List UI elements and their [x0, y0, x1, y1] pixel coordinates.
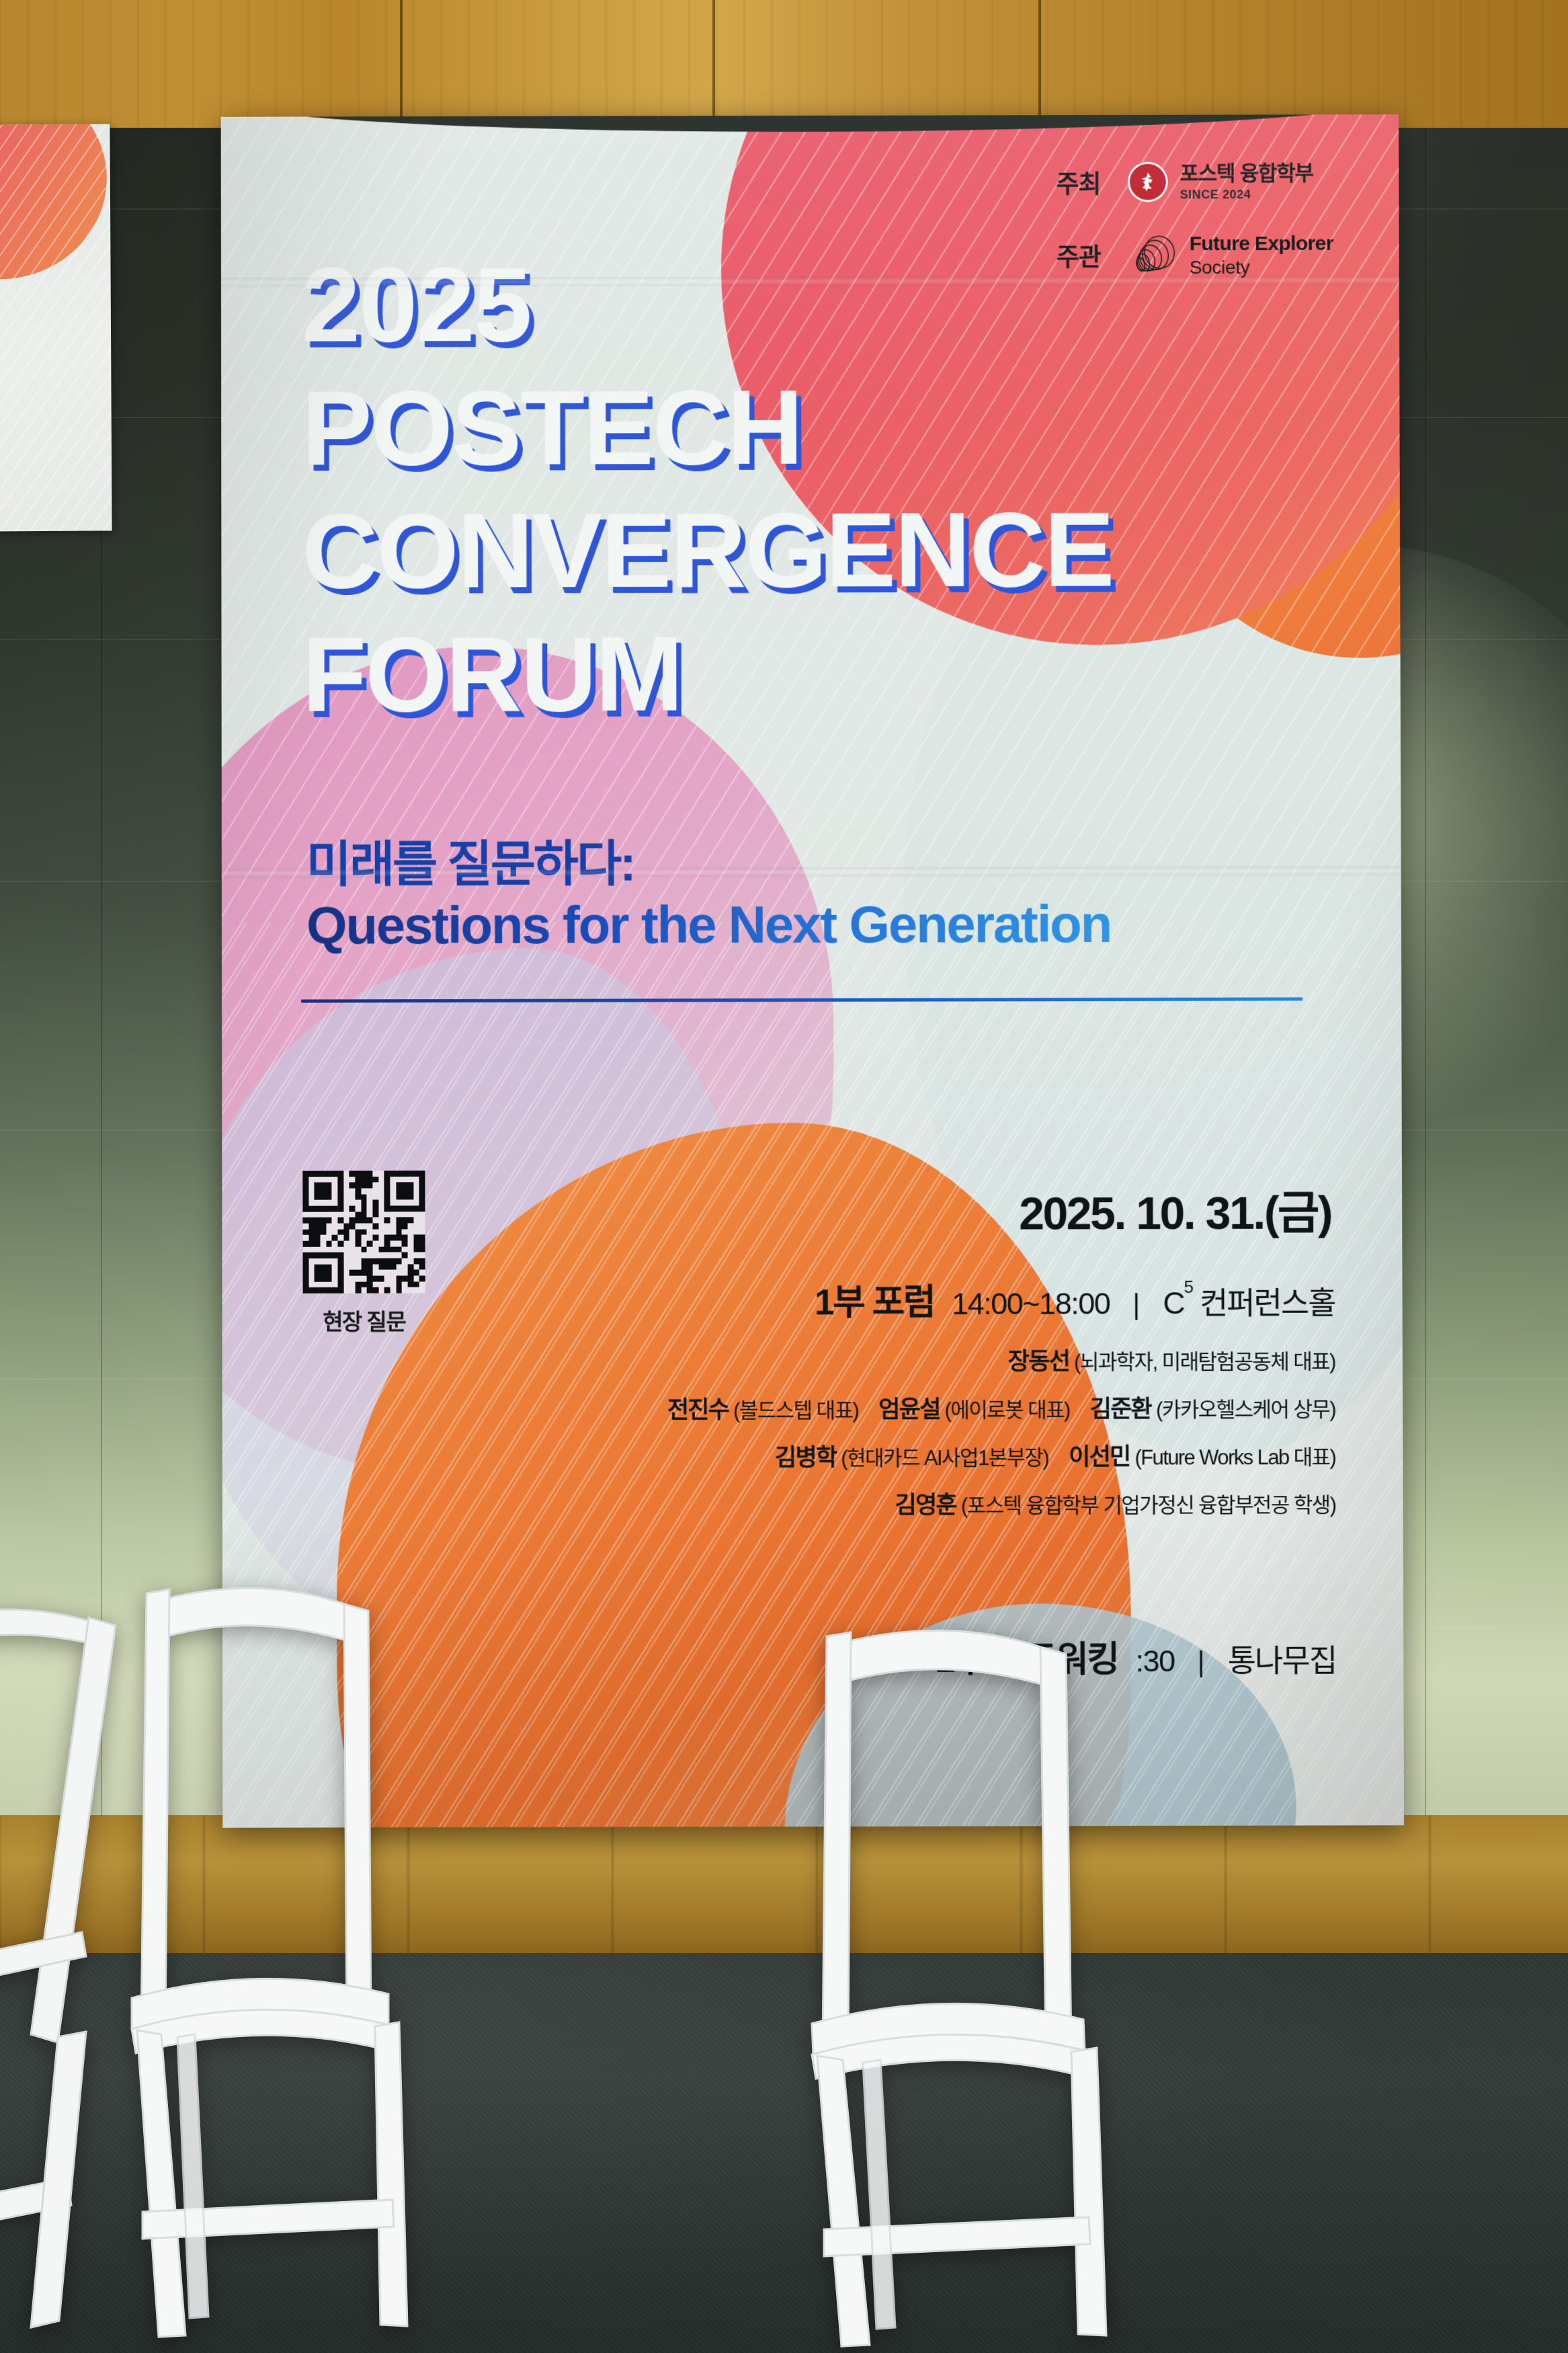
speaker-affiliation: (현대카드 AI사업1본부장): [836, 1446, 1048, 1470]
speaker-name: 김준환: [1090, 1396, 1151, 1422]
session-1-venue-rest: 컨퍼런스홀: [1192, 1285, 1335, 1321]
session-1-time: 14:00~18:00: [952, 1286, 1110, 1322]
speaker-name: 김영훈: [895, 1492, 956, 1518]
qr-caption: 현장 질문: [303, 1304, 425, 1336]
speaker-entry: 장동선 (뇌과학자, 미래탐험공동체 대표): [1008, 1360, 1335, 1372]
speaker-entry: 김병학 (현대카드 AI사업1본부장): [775, 1456, 1048, 1468]
session-1-divider: |: [1127, 1288, 1145, 1320]
sponsor-organizer-name-line2: Society: [1190, 256, 1333, 278]
session-2-venue: 통나무집: [1228, 1636, 1337, 1681]
speaker-name: 전진수: [667, 1397, 729, 1423]
session-1-title: 1부 포럼: [815, 1274, 934, 1325]
sponsor-host-text: 포스텍 융합학부 SINCE 2024: [1180, 162, 1313, 202]
speaker-affiliation: (Future Works Lab 대표): [1130, 1445, 1335, 1470]
speaker-entry: 이선민 (Future Works Lab 대표): [1069, 1455, 1335, 1468]
sponsor-mark-organizer: Future Explorer Society: [1128, 233, 1333, 278]
sponsor-host-since: SINCE 2024: [1180, 188, 1313, 202]
speaker-name: 김병학: [775, 1445, 836, 1471]
speaker-name: 장동선: [1008, 1349, 1069, 1375]
speaker-entry: 전진수 (볼드스텝 대표): [667, 1408, 858, 1421]
banner-subtitle-english: Questions for the Next Generation: [306, 893, 1111, 956]
speaker-line: 전진수 (볼드스텝 대표)엄윤설 (에이로봇 대표)김준환 (카카오헬스케어 상…: [667, 1390, 1335, 1425]
white-folding-chair: [793, 1613, 1116, 2353]
speaker-line: 장동선 (뇌과학자, 미래탐험공동체 대표): [667, 1342, 1335, 1378]
speaker-line: 김영훈 (포스텍 융합학부 기업가정신 융합부전공 학생): [667, 1485, 1335, 1521]
wall-panel-edge: [1425, 128, 1426, 1889]
session-2-divider: |: [1192, 1646, 1210, 1678]
sponsor-row-host: 주최 포스텍 융합학부 SINCE 2024: [1044, 161, 1333, 202]
future-explorer-rings-logo: [1128, 235, 1178, 276]
session-1-venue-code: C: [1163, 1285, 1184, 1320]
ceiling-seam: [712, 0, 715, 134]
session-1-venue-superscript: 5: [1184, 1277, 1192, 1297]
speaker-line: 김병학 (현대카드 AI사업1본부장)이선민 (Future Works Lab…: [667, 1437, 1335, 1473]
ceiling-seam: [400, 0, 403, 134]
qr-code[interactable]: [302, 1170, 425, 1293]
event-date: 2025. 10. 31.(금): [1019, 1175, 1331, 1242]
speaker-affiliation: (에이로봇 대표): [940, 1398, 1070, 1422]
sponsor-organizer-text: Future Explorer Society: [1190, 233, 1333, 278]
secondary-poster: [0, 124, 112, 531]
speaker-entry: 김준환 (카카오헬스케어 상무): [1090, 1408, 1335, 1420]
banner-headline: 2025 POSTECH CONVERGENCE FORUM: [302, 242, 1114, 737]
sponsor-role-label: 주최: [1044, 164, 1101, 200]
speaker-affiliation: (뇌과학자, 미래탐험공동체 대표): [1069, 1350, 1335, 1374]
speaker-list: 장동선 (뇌과학자, 미래탐험공동체 대표)전진수 (볼드스텝 대표)엄윤설 (…: [667, 1342, 1336, 1521]
speaker-affiliation: (카카오헬스케어 상무): [1151, 1398, 1335, 1422]
horizontal-divider-rule: [301, 997, 1303, 1002]
white-folding-chair: [108, 1566, 417, 2353]
sponsor-host-name: 포스텍 융합학부: [1180, 162, 1313, 186]
speaker-name: 엄윤설: [878, 1396, 940, 1423]
qr-block: 현장 질문: [302, 1170, 437, 1337]
sponsor-organizer-name-line1: Future Explorer: [1190, 233, 1333, 255]
speaker-affiliation: (볼드스텝 대표): [729, 1398, 858, 1422]
sponsor-mark-host: 포스텍 융합학부 SINCE 2024: [1127, 161, 1313, 202]
banner-subtitle-korean: 미래를 질문하다:: [306, 824, 634, 896]
postech-convergence-seal-logo: [1127, 162, 1167, 202]
session-1-line: 1부 포럼 14:00~18:00 | C5 컨퍼런스홀: [815, 1273, 1335, 1326]
session-1-venue: C5 컨퍼런스홀: [1163, 1279, 1335, 1324]
speaker-name: 이선민: [1069, 1444, 1130, 1470]
speaker-entry: 엄윤설 (에이로봇 대표): [878, 1408, 1069, 1421]
secondary-poster-stripes: [0, 124, 112, 531]
scene-root: 주최 포스텍 융합학부 SINCE 2024: [0, 0, 1568, 2353]
speaker-affiliation: (포스텍 융합학부 기업가정신 융합부전공 학생): [956, 1493, 1336, 1517]
ceiling-seam: [1038, 0, 1041, 134]
speaker-entry: 김영훈 (포스텍 융합학부 기업가정신 융합부전공 학생): [895, 1503, 1336, 1515]
session-2-time: :30: [1135, 1644, 1174, 1679]
